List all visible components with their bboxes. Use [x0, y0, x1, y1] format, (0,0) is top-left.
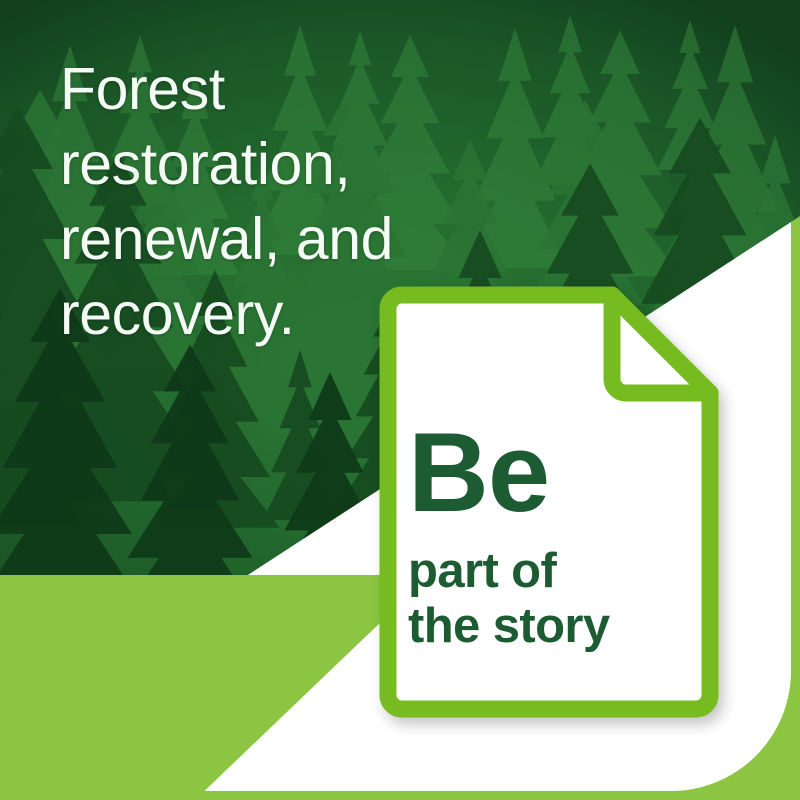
document-card-subtitle: part of the story — [408, 544, 708, 654]
document-card-text: Be part of the story — [408, 418, 708, 654]
document-card-title: Be — [408, 418, 708, 528]
poster-canvas: Forest restoration, renewal, and recover… — [0, 0, 800, 800]
